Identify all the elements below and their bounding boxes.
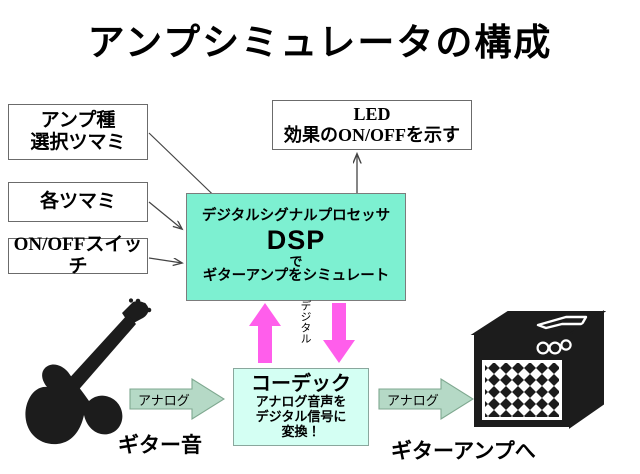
caption-guitar-sound: ギター音 (118, 429, 202, 459)
dsp-box-acronym: DSP (267, 226, 326, 254)
codec-box-line2: デジタル信号に (256, 410, 347, 425)
digital-signal-label: デジタル (292, 300, 310, 344)
input-box-knobs: 各ツマミ (8, 182, 148, 222)
electric-guitar-icon (12, 298, 162, 450)
digital-arrow-up-icon (248, 302, 282, 364)
page-title: アンプシミュレータの構成 (0, 12, 640, 66)
guitar-amplifier-icon (470, 308, 606, 432)
input-box-knobs-label: 各ツマミ (40, 191, 116, 213)
codec-box-line1: アナログ音声を (256, 395, 347, 410)
input-box-onoff-switch: ON/OFFスイッチ (8, 238, 148, 274)
input-box-amp-type: アンプ種 選択ツマミ (8, 104, 148, 160)
dsp-box-description: ギターアンプをシミュレート (203, 269, 390, 285)
digital-arrow-down-icon (322, 302, 356, 364)
analog-out-label: アナログ (387, 390, 439, 409)
caption-to-guitar-amp: ギターアンプへ (391, 435, 536, 465)
codec-box-line3: 変換！ (281, 425, 320, 440)
input-box-amp-type-line2: 選択ツマミ (30, 132, 125, 154)
input-box-onoff-switch-label: ON/OFFスイッチ (9, 234, 147, 279)
led-box-title: LED (353, 104, 390, 125)
codec-box-title: コーデック (251, 374, 351, 396)
dsp-box-subtitle: デジタルシグナルプロセッサ (202, 209, 390, 225)
input-box-amp-type-line1: アンプ種 (41, 110, 116, 132)
led-box-description: 効果のON/OFFを示す (284, 125, 460, 146)
led-box: LED 効果のON/OFFを示す (272, 100, 472, 150)
dsp-box-connector: で (289, 255, 302, 269)
codec-box: コーデック アナログ音声を デジタル信号に 変換！ (233, 368, 369, 446)
dsp-box: デジタルシグナルプロセッサ DSP で ギターアンプをシミュレート (186, 193, 406, 301)
amp-simulator-diagram: アンプシミュレータの構成 アンプ種 選択ツマミ 各ツマミ ON/OFFスイッチ … (0, 0, 640, 474)
